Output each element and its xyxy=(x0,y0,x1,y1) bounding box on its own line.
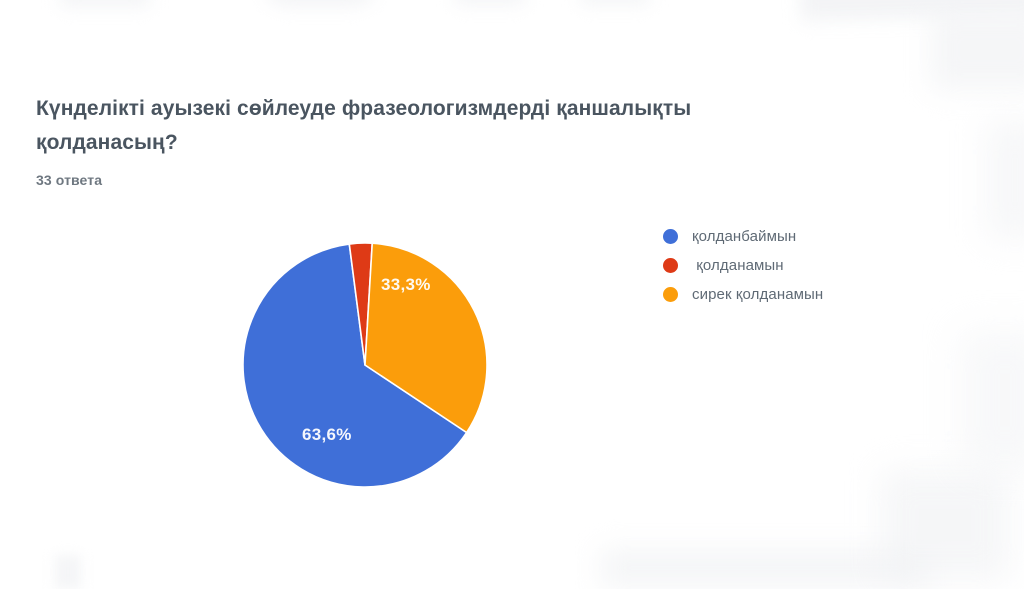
legend-item-sirek-qoldanamyn[interactable]: сирек қолданамын xyxy=(663,286,823,302)
legend-item-label: қолданамын xyxy=(692,257,784,274)
chart-legend: қолданбаймын қолданамын сирек қолданамын xyxy=(663,228,823,302)
legend-swatch-icon xyxy=(663,258,678,273)
legend-item-qoldanbaimyn[interactable]: қолданбаймын xyxy=(663,228,823,244)
legend-item-qoldanamyn[interactable]: қолданамын xyxy=(663,257,823,273)
survey-result-card: Күнделікті ауызекі сөйлеуде фразеологизм… xyxy=(0,0,1024,576)
pie-slice-label-sirek-qoldanamyn: 33,3% xyxy=(381,275,431,295)
legend-item-label: қолданбаймын xyxy=(692,228,796,245)
pie-chart: 63,6% 33,3% қолданбаймын қолданамын сире… xyxy=(0,0,1024,576)
pie-slice-label-qoldanbaimyn: 63,6% xyxy=(302,425,352,445)
legend-swatch-icon xyxy=(663,287,678,302)
pie-chart-svg xyxy=(220,220,510,510)
legend-swatch-icon xyxy=(663,229,678,244)
legend-item-label: сирек қолданамын xyxy=(692,286,823,303)
